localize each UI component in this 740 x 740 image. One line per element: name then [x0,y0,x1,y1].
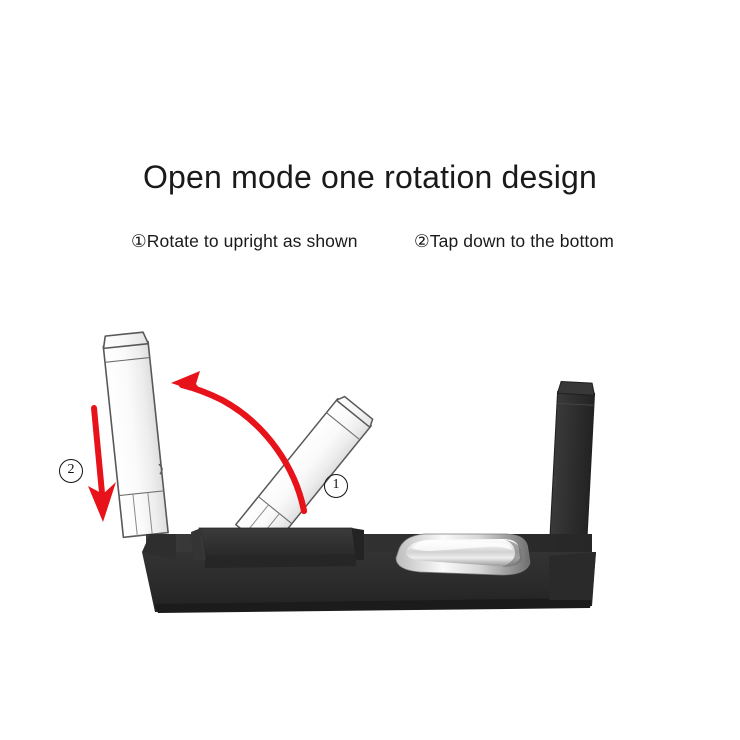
instruction-graphic-page: Open mode one rotation design ①Rotate to… [0,0,740,740]
base-right-riser [549,552,596,600]
step-1-circle-marker: 1 [324,474,348,498]
product-illustration: 2 1 [0,0,740,740]
right-arm-cap [558,381,596,395]
silver-tray [396,534,530,575]
illustration-svg [0,0,740,740]
upright-white-arm [102,332,168,538]
upright-arm-body [103,342,168,538]
platform-front [205,554,356,568]
down-arrow-shaft [94,408,102,493]
step-2-circle-marker: 2 [59,459,83,483]
raised-platform [191,528,364,568]
rotation-arrow-head [171,371,204,394]
platform-top [199,528,356,558]
